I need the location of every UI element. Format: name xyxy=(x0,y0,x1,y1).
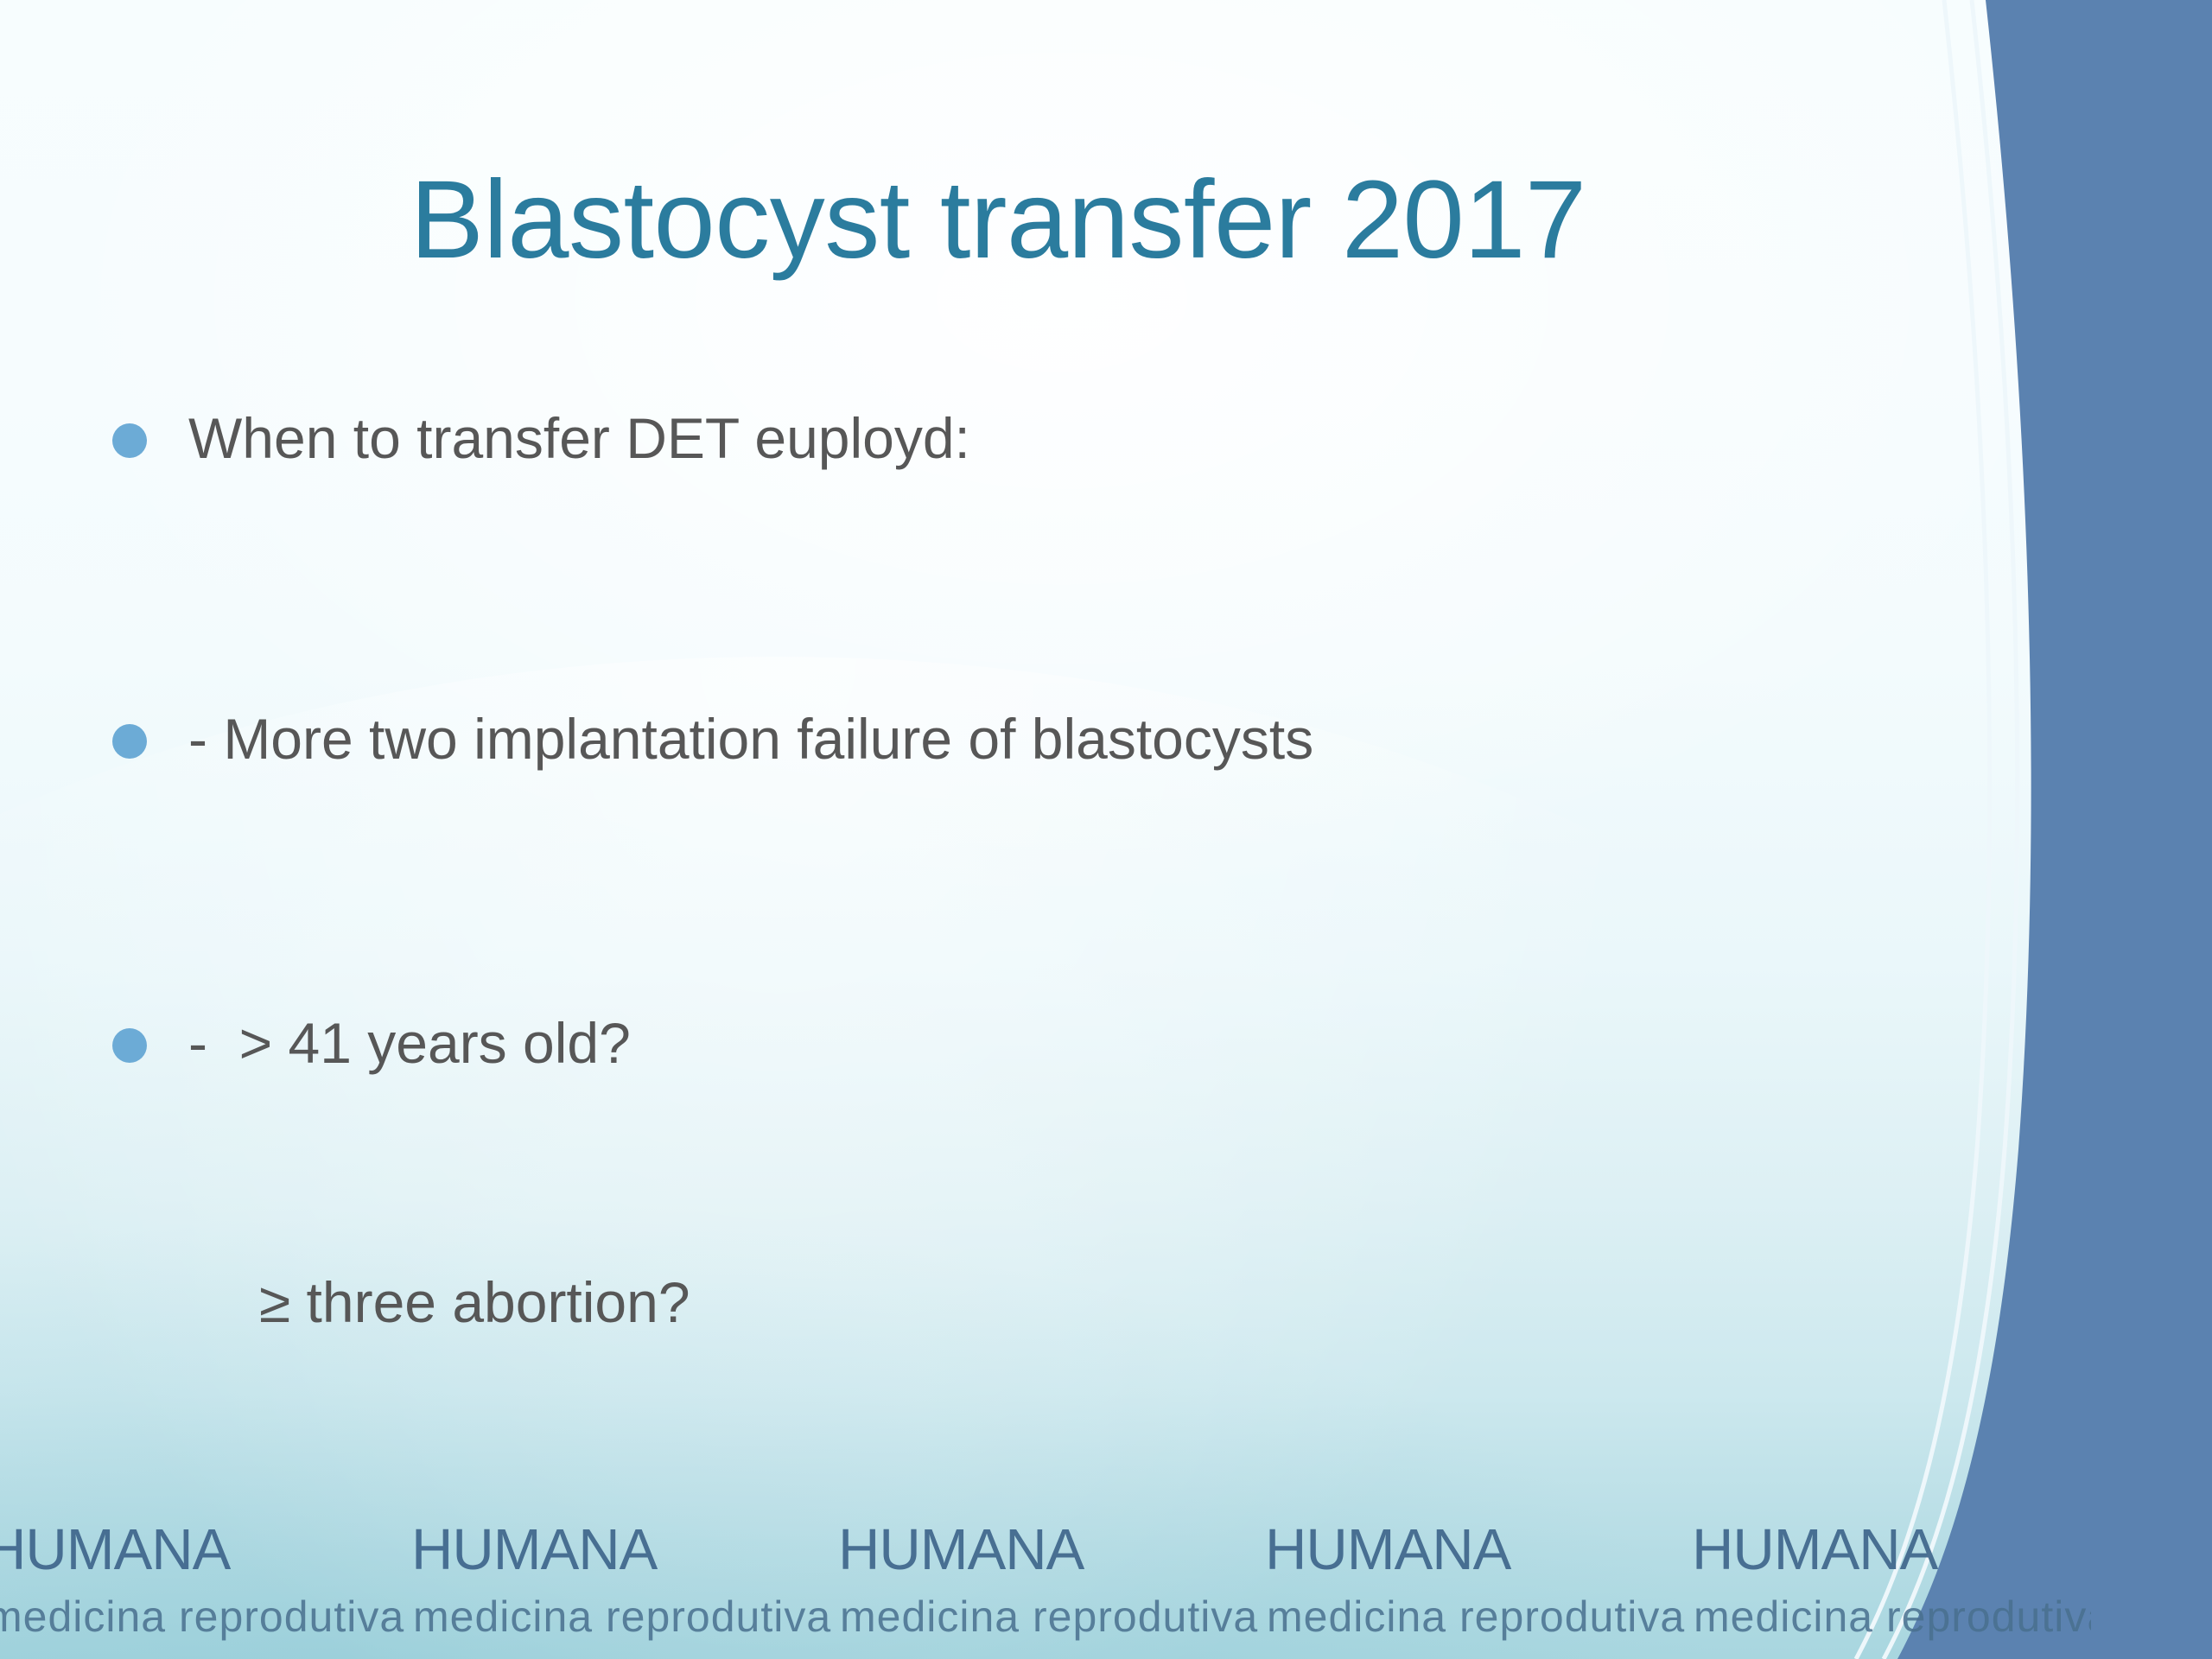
watermark-unit: HUMANAmedicina reprodutiva xyxy=(838,1503,1265,1659)
list-item: - More two implantation failure of blast… xyxy=(112,707,1313,772)
list-item-label: - More two implantation failure of blast… xyxy=(188,707,1313,772)
presentation-slide: Blastocyst transfer 2017 When to transfe… xyxy=(0,0,2212,1659)
watermark-brand: HUMANA xyxy=(1265,1500,1510,1583)
footer-watermark-row: HUMANAmedicina reprodutivaHUMANAmedicina… xyxy=(0,1503,2091,1659)
bullet-dot-icon xyxy=(112,423,147,458)
list-item-label: When to transfer DET euployd: xyxy=(188,406,970,472)
page-title: Blastocyst transfer 2017 xyxy=(0,162,1996,278)
watermark-tagline: medicina reprodutiva xyxy=(1694,1595,2091,1638)
list-item: - > 41 years old? xyxy=(112,1011,631,1077)
watermark-tagline: medicina reprodutiva xyxy=(1267,1595,1685,1638)
watermark-tagline: medicina reprodutiva xyxy=(0,1595,404,1638)
watermark-tagline: medicina reprodutiva xyxy=(840,1595,1258,1638)
watermark-tagline: medicina reprodutiva xyxy=(413,1595,831,1638)
bullet-dot-icon xyxy=(112,724,147,759)
watermark-brand: HUMANA xyxy=(411,1500,657,1583)
watermark-brand: HUMANA xyxy=(1692,1500,1937,1583)
watermark-unit: HUMANAmedicina reprodutiva xyxy=(1692,1503,2091,1659)
watermark-unit: HUMANAmedicina reprodutiva xyxy=(0,1503,411,1659)
bullet-dot-icon xyxy=(112,1028,147,1063)
list-item-label: - > 41 years old? xyxy=(188,1011,631,1077)
footer-watermark-strip: HUMANAmedicina reprodutivaHUMANAmedicina… xyxy=(0,1495,2091,1659)
background-arc xyxy=(0,657,2160,1659)
watermark-unit: HUMANAmedicina reprodutiva xyxy=(1265,1503,1692,1659)
watermark-brand: HUMANA xyxy=(838,1500,1084,1583)
list-item: When to transfer DET euployd: xyxy=(112,406,970,472)
watermark-brand: HUMANA xyxy=(0,1500,230,1583)
unbulleted-line: ≥ three abortion? xyxy=(259,1270,690,1336)
watermark-unit: HUMANAmedicina reprodutiva xyxy=(411,1503,838,1659)
